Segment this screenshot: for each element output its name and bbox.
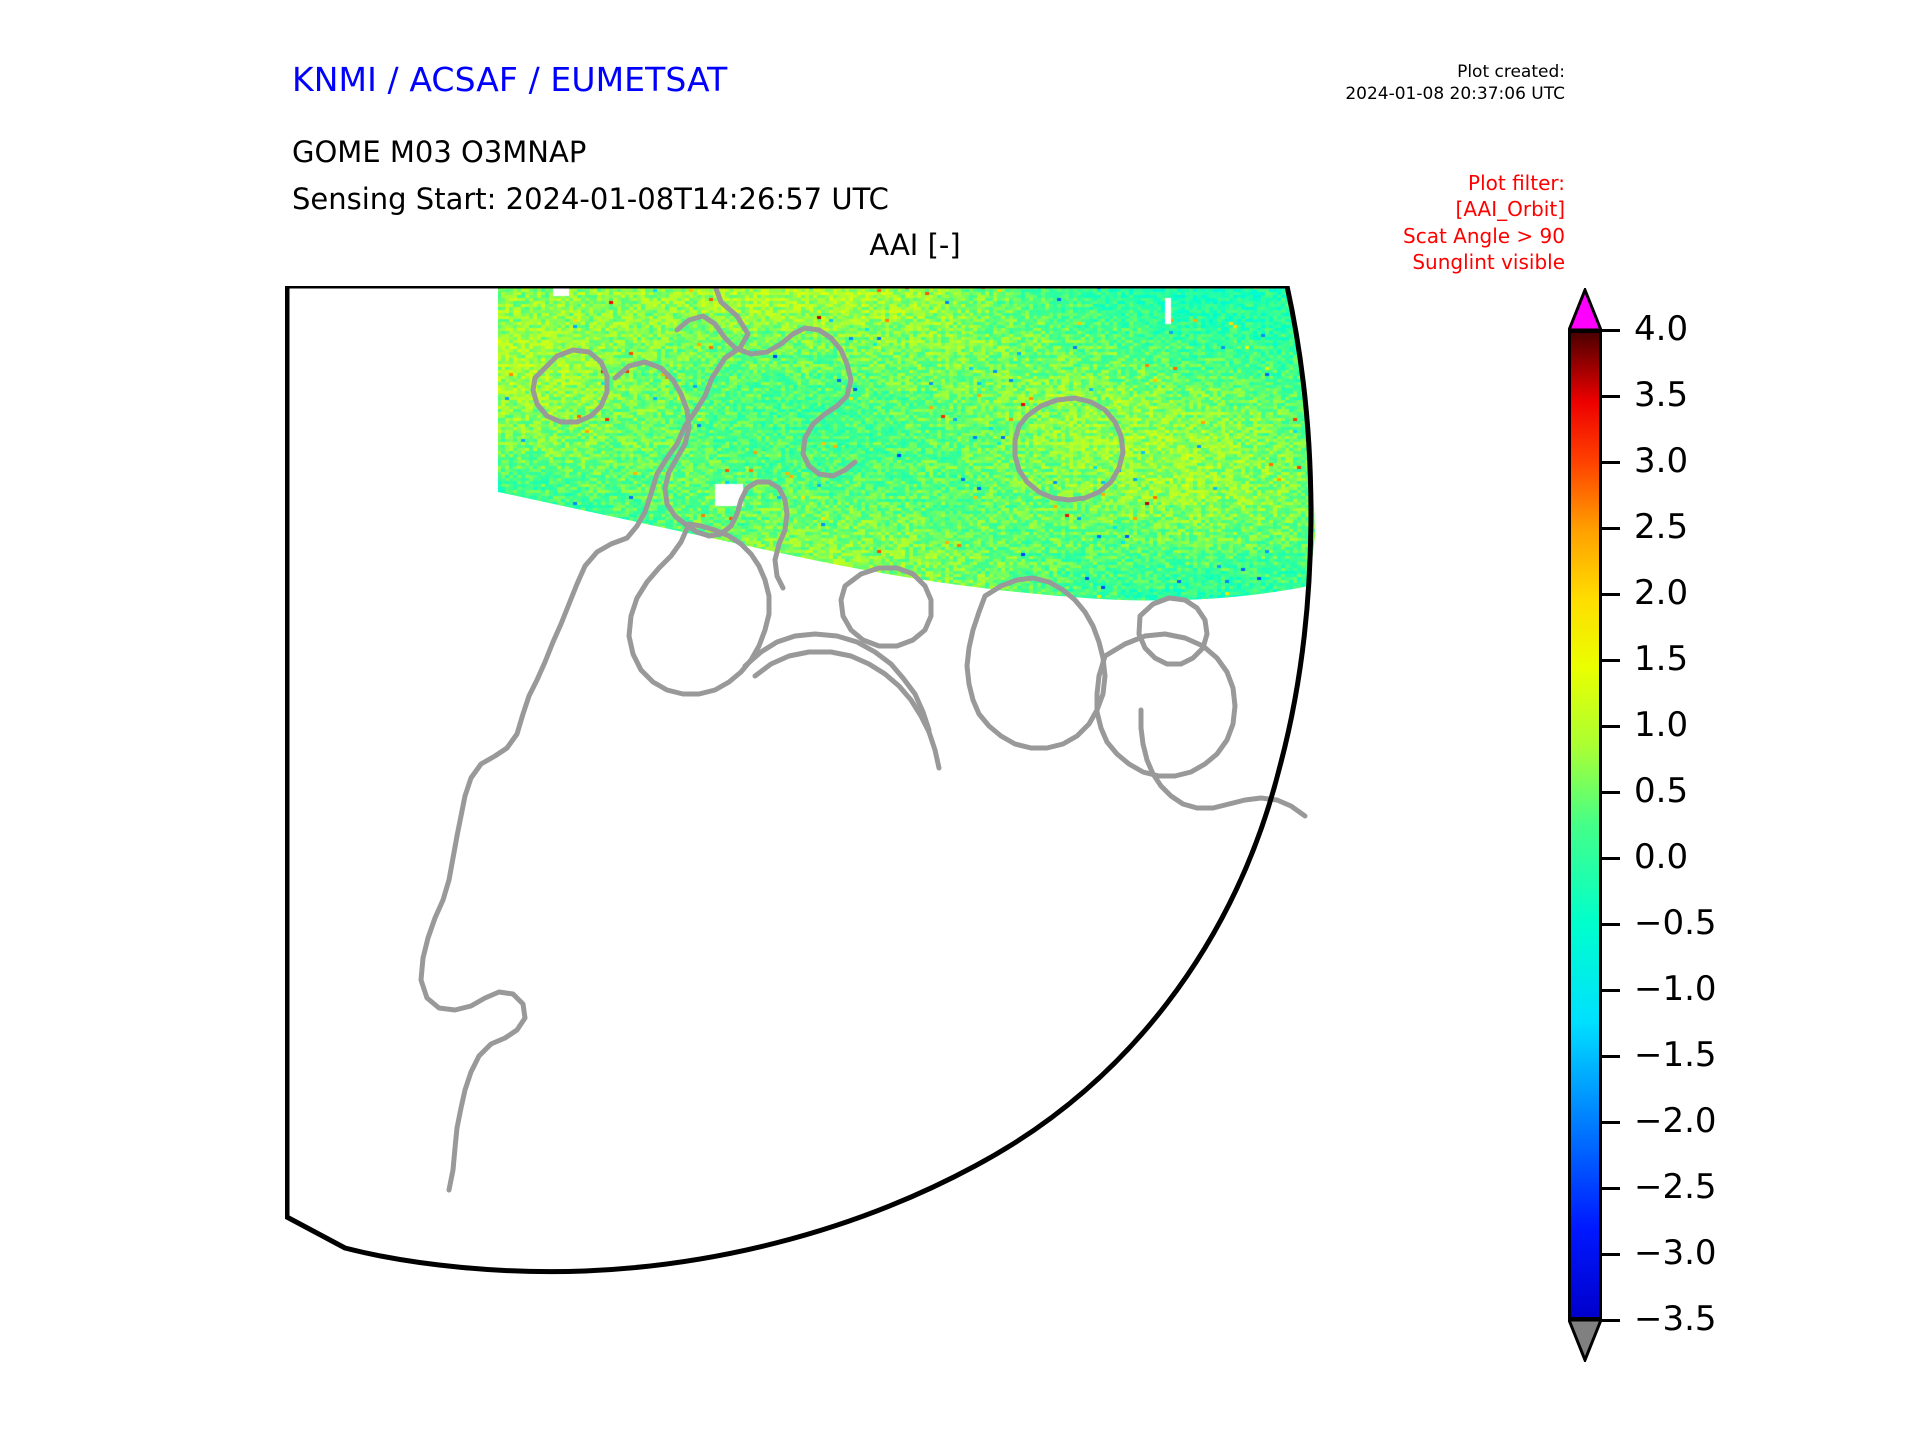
colorbar-tick-label: −1.5 xyxy=(1634,1038,1717,1072)
colorbar-tick-mark xyxy=(1602,395,1620,398)
plot-created-block: Plot created: 2024-01-08 20:37:06 UTC xyxy=(1345,62,1565,106)
colorbar: 4.03.53.02.52.01.51.00.50.0−0.5−1.0−1.5−… xyxy=(1568,288,1898,1308)
colorbar-tick-label: −1.0 xyxy=(1634,972,1717,1006)
colorbar-tick-label: −3.5 xyxy=(1634,1302,1717,1336)
colorbar-tick-mark xyxy=(1602,725,1620,728)
colorbar-tick-mark xyxy=(1602,923,1620,926)
colorbar-tick-label: −2.0 xyxy=(1634,1104,1717,1138)
colorbar-tick-label: 0.5 xyxy=(1634,774,1688,808)
sensing-start-label: Sensing Start: 2024-01-08T14:26:57 UTC xyxy=(292,182,889,216)
colorbar-tick-label: 1.0 xyxy=(1634,708,1688,742)
colorbar-tick-label: −2.5 xyxy=(1634,1170,1717,1204)
institute-title: KNMI / ACSAF / EUMETSAT xyxy=(292,60,727,99)
colorbar-over-arrow xyxy=(1568,288,1602,332)
plot-created-timestamp: 2024-01-08 20:37:06 UTC xyxy=(1345,84,1565,106)
colorbar-tick-mark xyxy=(1602,1319,1620,1322)
colorbar-gradient xyxy=(1568,330,1602,1320)
colorbar-tick-mark xyxy=(1602,1187,1620,1190)
colorbar-tick-label: 2.0 xyxy=(1634,576,1688,610)
colorbar-tick-mark xyxy=(1602,857,1620,860)
plot-filter-label: Plot filter: xyxy=(1403,170,1565,196)
plot-created-label: Plot created: xyxy=(1345,62,1565,84)
map-svg xyxy=(285,286,1545,1306)
colorbar-tick-label: 1.5 xyxy=(1634,642,1688,676)
map-plot-area xyxy=(285,286,1545,1306)
colorbar-tick-mark xyxy=(1602,461,1620,464)
colorbar-tick-mark xyxy=(1602,329,1620,332)
colorbar-tick-mark xyxy=(1602,791,1620,794)
colorbar-tick-label: −0.5 xyxy=(1634,906,1717,940)
colorbar-tick-mark xyxy=(1602,1253,1620,1256)
colorbar-tick-label: 3.0 xyxy=(1634,444,1688,478)
colorbar-tick-label: 3.5 xyxy=(1634,378,1688,412)
colorbar-tick-mark xyxy=(1602,593,1620,596)
colorbar-tick-labels: 4.03.53.02.52.01.51.00.50.0−0.5−1.0−1.5−… xyxy=(1602,330,1892,1320)
colorbar-tick-mark xyxy=(1602,989,1620,992)
colorbar-tick-mark xyxy=(1602,659,1620,662)
colorbar-tick-mark xyxy=(1602,527,1620,530)
colorbar-tick-mark xyxy=(1602,1055,1620,1058)
plot-filter-sunglint: Sunglint visible xyxy=(1403,249,1565,275)
page-title: AAI [-] xyxy=(285,228,1545,262)
plot-filter-orbit: [AAI_Orbit] xyxy=(1403,196,1565,222)
colorbar-tick-label: 0.0 xyxy=(1634,840,1688,874)
colorbar-tick-label: −3.0 xyxy=(1634,1236,1717,1270)
plot-filter-scat-angle: Scat Angle > 90 xyxy=(1403,223,1565,249)
colorbar-tick-label: 4.0 xyxy=(1634,312,1688,346)
colorbar-tick-mark xyxy=(1602,1121,1620,1124)
plot-filter-block: Plot filter: [AAI_Orbit] Scat Angle > 90… xyxy=(1403,170,1565,276)
colorbar-tick-label: 2.5 xyxy=(1634,510,1688,544)
colorbar-under-arrow xyxy=(1568,1318,1602,1362)
product-title: GOME M03 O3MNAP xyxy=(292,135,586,169)
